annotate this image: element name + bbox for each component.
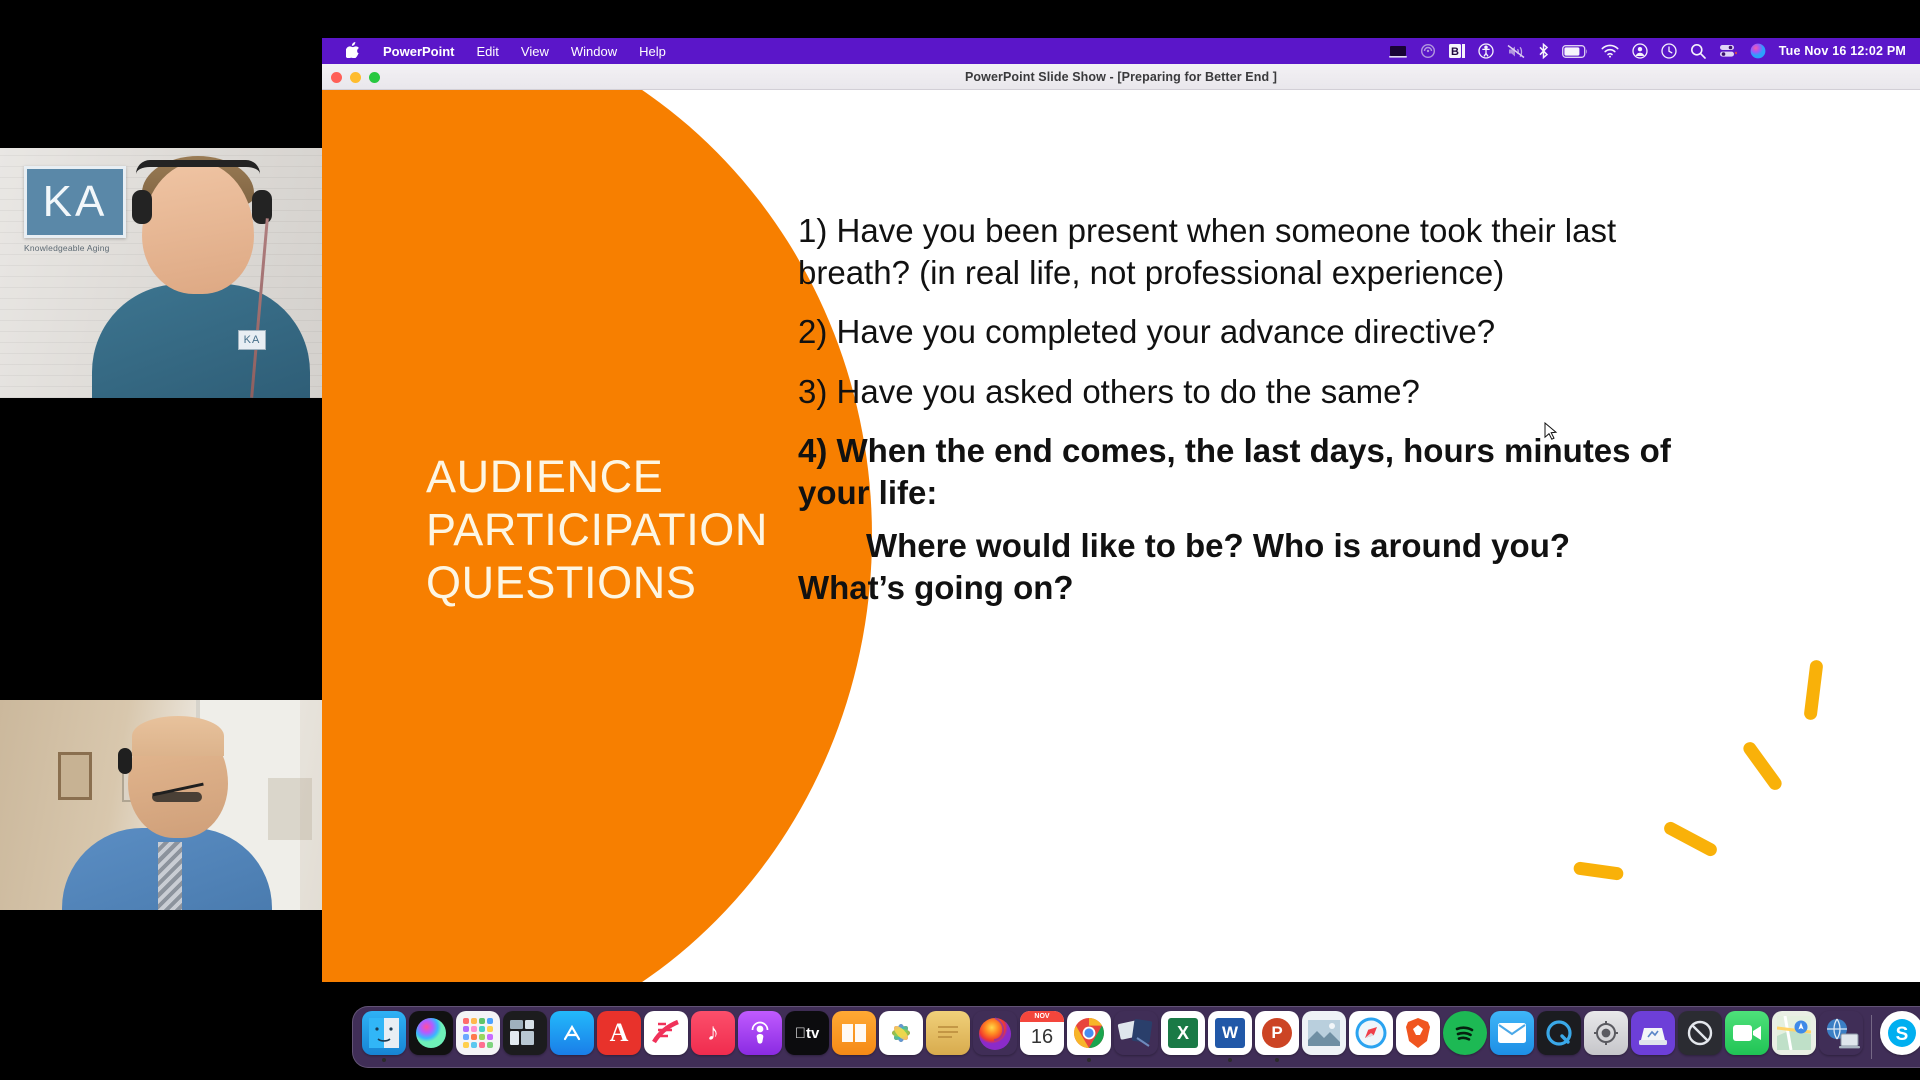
dock-item-facetime[interactable] [1725,1011,1769,1063]
dock-item-apple-tv[interactable]: tv [785,1011,829,1063]
dock-item-quicktime-player[interactable] [1537,1011,1581,1063]
menu-item-view[interactable]: View [510,44,560,59]
logo-mark: KA [43,180,108,224]
dock-item-books[interactable] [832,1011,876,1063]
knowledgeable-aging-logo: KA Knowledgeable Aging [24,166,126,253]
running-indicator [1275,1058,1279,1062]
accent-dash-4 [1573,861,1624,881]
excel-glyph: X [1168,1018,1198,1048]
dock-item-image-capture[interactable] [1114,1011,1158,1063]
dock-item-spotify[interactable] [1443,1011,1487,1063]
dock-item-mail[interactable] [1490,1011,1534,1063]
calendar-month-label: NOV [1020,1011,1064,1022]
powerpoint-glyph: P [1262,1018,1292,1048]
participant-video-tile-bottom[interactable] [0,700,322,910]
bluetooth-icon[interactable] [1538,43,1549,59]
macos-dock[interactable]: A ♪ tv [352,1006,1920,1068]
dock-item-news[interactable] [644,1011,688,1063]
dock-item-microsoft-word[interactable]: W [1208,1011,1252,1063]
slide-bullet-4-sub: Where would like to be? Who is around yo… [798,525,1678,608]
wall-shelf [268,778,312,840]
slide-body-text: 1) Have you been present when someone to… [798,210,1678,609]
dock-item-mission-control[interactable] [503,1011,547,1063]
dock-item-safari[interactable] [1349,1011,1393,1063]
powerpoint-slideshow-window: PowerPoint Slide Show - [Preparing for B… [322,64,1920,982]
headset-band-icon [136,160,260,174]
menu-item-window[interactable]: Window [560,44,628,59]
menu-item-help[interactable]: Help [628,44,677,59]
dock-item-microsoft-powerpoint[interactable]: P [1255,1011,1299,1063]
dock-item-music[interactable]: ♪ [691,1011,735,1063]
dock-item-app-store[interactable] [550,1011,594,1063]
svg-text:S: S [1896,1024,1909,1045]
zoom-button[interactable] [369,72,380,83]
menu-item-edit[interactable]: Edit [466,44,510,59]
dock-separator [1871,1015,1872,1059]
presentation-slide[interactable]: AUDIENCE PARTICIPATION QUESTIONS 1) Have… [322,90,1920,982]
participant-head-top [132,716,224,756]
window-title: PowerPoint Slide Show - [Preparing for B… [965,70,1277,84]
dock-item-calendar[interactable]: NOV 16 [1020,1011,1064,1063]
participant-video-tile-top[interactable]: KA Knowledgeable Aging KA [0,148,322,398]
headset-earcup-left [132,190,152,224]
minimize-button[interactable] [350,72,361,83]
wall-picture-frame [58,752,92,800]
dock-item-microsoft-excel[interactable]: X [1161,1011,1205,1063]
bartender-icon[interactable]: B [1449,44,1465,58]
screen-mirroring-icon[interactable] [1420,43,1436,59]
dock-item-siri[interactable] [409,1011,453,1063]
dock-item-maps[interactable] [1772,1011,1816,1063]
menu-bar-clock[interactable]: Tue Nov 16 12:02 PM [1779,44,1906,58]
logo-caption: Knowledgeable Aging [24,243,126,253]
menu-bar-left-group: PowerPoint Edit View Window Help [322,42,677,61]
slide-bullet-3: 3) Have you asked others to do the same? [798,371,1678,413]
dock-item-launchpad[interactable] [456,1011,500,1063]
headset-earcup-right [252,190,272,224]
shirt-badge: KA [238,330,266,350]
display-icon[interactable] [1389,45,1407,58]
battery-icon[interactable] [1562,45,1588,58]
control-center-icon[interactable] [1719,44,1737,58]
dock-item-system-preferences[interactable] [1584,1011,1628,1063]
slide-title: AUDIENCE PARTICIPATION QUESTIONS [426,450,846,609]
accessibility-icon[interactable] [1478,43,1494,59]
menu-bar-status-group: B [1389,43,1920,59]
slide-bullet-2: 2) Have you completed your advance direc… [798,311,1678,353]
dock-item-preview[interactable] [1302,1011,1346,1063]
volume-muted-icon[interactable] [1507,44,1525,59]
menu-item-powerpoint[interactable]: PowerPoint [372,44,466,59]
time-machine-icon[interactable] [1661,43,1677,59]
dock-item-firefox[interactable] [973,1011,1017,1063]
dock-item-podcasts[interactable] [738,1011,782,1063]
search-icon[interactable] [1690,43,1706,59]
window-title-bar[interactable]: PowerPoint Slide Show - [Preparing for B… [322,64,1920,90]
siri-icon[interactable] [1750,43,1766,59]
running-indicator [1087,1058,1091,1062]
video-conference-rail: KA Knowledgeable Aging KA [0,0,322,1080]
user-account-icon[interactable] [1632,43,1648,59]
calendar-day-label: 16 [1031,1026,1053,1049]
slide-bullet-4: 4) When the end comes, the last days, ho… [798,430,1678,513]
participant-tie [158,842,182,910]
wifi-icon[interactable] [1601,44,1619,58]
dock-item-do-not-disturb[interactable] [1678,1011,1722,1063]
macos-menu-bar[interactable]: PowerPoint Edit View Window Help B [322,38,1920,64]
accent-dash-1 [1803,659,1823,720]
headset-earcup [118,748,132,774]
window-traffic-lights [331,72,380,83]
accent-dash-3 [1662,820,1719,859]
dock-item-photos[interactable] [879,1011,923,1063]
screen: KA Knowledgeable Aging KA [0,0,1920,1080]
mouse-cursor-icon [1544,422,1558,442]
dock-item-notes[interactable] [926,1011,970,1063]
svg-text:B: B [1451,46,1459,58]
accent-dash-2 [1741,740,1784,793]
dock-item-screen-sharing[interactable] [1819,1011,1863,1063]
slide-bullet-1: 1) Have you been present when someone to… [798,210,1678,293]
running-indicator [382,1058,386,1062]
dock-item-adobe-acrobat[interactable]: A [597,1011,641,1063]
apple-menu-icon[interactable] [334,42,372,61]
running-indicator [1228,1058,1232,1062]
dock-item-google-chrome[interactable] [1067,1011,1111,1063]
dock-item-skype[interactable]: S [1880,1011,1920,1063]
dock-item-finder[interactable] [362,1011,406,1063]
dock-item-scanner[interactable] [1631,1011,1675,1063]
word-glyph: W [1215,1018,1245,1048]
close-button[interactable] [331,72,342,83]
dock-item-brave-browser[interactable] [1396,1011,1440,1063]
